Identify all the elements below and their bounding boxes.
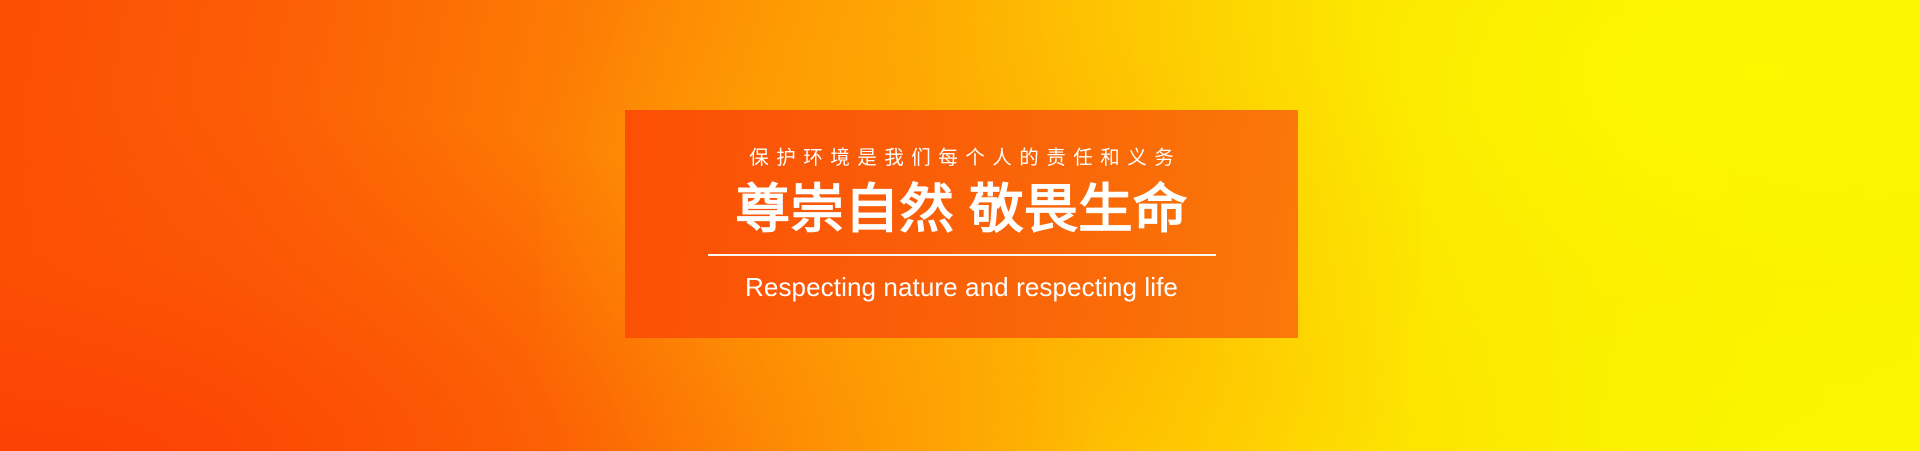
banner-root: 保护环境是我们每个人的责任和义务 尊崇自然 敬畏生命 Respecting na… xyxy=(0,0,1920,451)
slogan-panel: 保护环境是我们每个人的责任和义务 尊崇自然 敬畏生命 Respecting na… xyxy=(625,110,1298,338)
slogan-panel-content: 保护环境是我们每个人的责任和义务 尊崇自然 敬畏生命 Respecting na… xyxy=(692,147,1232,302)
slogan-tagline-english: Respecting nature and respecting life xyxy=(745,273,1178,302)
slogan-headline: 尊崇自然 敬畏生命 xyxy=(736,181,1188,238)
slogan-divider xyxy=(708,254,1216,256)
slogan-subheading: 保护环境是我们每个人的责任和义务 xyxy=(742,149,1182,169)
